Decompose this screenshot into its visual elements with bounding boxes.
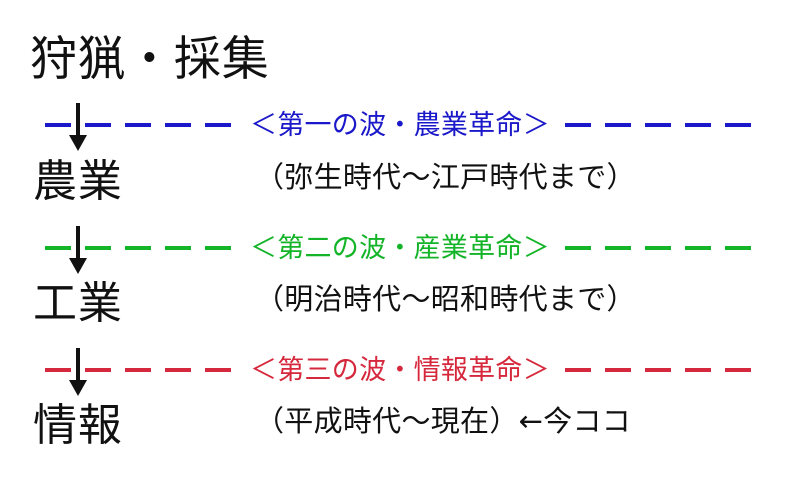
dash-segment [125,368,151,372]
wave-row-3: ＜第三の波・情報革命＞ [0,350,800,390]
dash-segment [205,123,231,127]
dash-segment [565,368,591,372]
dash-segment [645,368,671,372]
era-caption-3: （平成時代～現在）←今ココ [255,407,631,436]
down-arrow-icon-3 [63,348,93,396]
dash-segment [725,368,751,372]
down-arrow-icon-1 [63,103,93,151]
era-caption-2: （明治時代～昭和時代まで） [255,285,636,314]
dash-segment [645,123,671,127]
dash-segment [685,246,711,250]
dash-segment [605,368,631,372]
era-caption-1: （弥生時代～江戸時代まで） [255,163,636,192]
wave-caption-3: ＜第三の波・情報革命＞ [244,350,556,390]
dash-segment [205,246,231,250]
dash-segment [645,246,671,250]
dash-segment [725,246,751,250]
dash-segment [685,368,711,372]
wave-row-1: ＜第一の波・農業革命＞ [0,105,800,145]
dash-segment [125,246,151,250]
wave-caption-2: ＜第二の波・産業革命＞ [244,228,556,268]
down-arrow-icon-2 [63,226,93,274]
dash-segment [165,246,191,250]
stage-label-information: 情報 [33,404,123,448]
stage-label-agriculture: 農業 [33,160,123,204]
dash-segment [565,123,591,127]
dash-segment [605,246,631,250]
stage-label-hunting: 狩猟・採集 [30,36,270,83]
dash-segment [605,123,631,127]
diagram-canvas: 狩猟・採集 ＜第一の波・農業革命＞ 農業 （弥生時代～江戸時代まで） ＜第二の波… [0,0,800,502]
dash-segment [205,368,231,372]
dash-segment [685,123,711,127]
dash-segment [125,123,151,127]
wave-row-2: ＜第二の波・産業革命＞ [0,228,800,268]
stage-label-industry: 工業 [33,282,123,326]
wave-caption-1: ＜第一の波・農業革命＞ [244,105,556,145]
dash-segment [565,246,591,250]
dash-segment [165,123,191,127]
dash-segment [725,123,751,127]
dash-segment [165,368,191,372]
